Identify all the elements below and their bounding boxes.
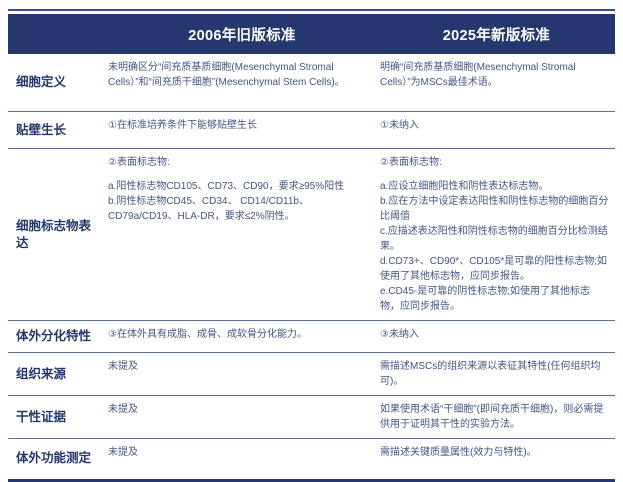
row-old-cell-definition: 未明确区分“间充质基质细胞(Mesenchymal Stromal Cells）… bbox=[106, 54, 378, 96]
text-spacer bbox=[108, 170, 368, 179]
table-row: 细胞标志物表达 ②表面标志物: a.阳性标志物CD105、CD73、CD90，要… bbox=[8, 149, 615, 321]
text-block: a.阳性标志物CD105、CD73、CD90，要求≥95%阳性 bbox=[108, 179, 368, 194]
text-block: 未明确区分“间充质基质细胞(Mesenchymal Stromal Cells）… bbox=[108, 60, 368, 90]
row-new-cell-markers: ②表面标志物: a.应设立细胞阳性和阴性表达标志物。 b.应在方法中设定表达阳性… bbox=[378, 149, 615, 320]
table-body: 细胞定义 未明确区分“间充质基质细胞(Mesenchymal Stromal C… bbox=[8, 54, 615, 477]
text-block: c.应描述表达阳性和阴性标志物的细胞百分比检测结果。 bbox=[380, 224, 609, 254]
text-block: ①未纳入 bbox=[380, 118, 609, 133]
row-label-cell-tissue-source: 组织来源 bbox=[8, 353, 106, 395]
row-label-cell-differentiation: 体外分化特性 bbox=[8, 321, 106, 352]
header-new-standard: 2025年新版标准 bbox=[378, 24, 615, 45]
row-old-cell-tissue-source: 未提及 bbox=[106, 353, 378, 380]
comparison-table-sheet: 2006年旧版标准 2025年新版标准 细胞定义 未明确区分“间充质基质细胞(M… bbox=[0, 9, 623, 427]
text-block: ①在标准培养条件下能够贴壁生长 bbox=[108, 118, 368, 133]
row-label-cell-markers: 细胞标志物表达 bbox=[8, 149, 106, 320]
text-block: d.CD73+、CD90*、CD105*是可靠的阳性标志物;如使用了其他标志物，… bbox=[380, 254, 609, 284]
text-block: ②表面标志物: bbox=[108, 155, 368, 170]
row-label-cell-definition: 细胞定义 bbox=[8, 54, 106, 111]
header-old-standard: 2006年旧版标准 bbox=[106, 24, 378, 45]
text-block: b.应在方法中设定表达阳性和阴性标志物的细胞百分比阈值 bbox=[380, 194, 609, 224]
table-header-row: 2006年旧版标准 2025年新版标准 bbox=[8, 14, 615, 54]
text-block: 未提及 bbox=[108, 402, 368, 417]
text-spacer bbox=[380, 170, 609, 179]
row-old-cell-differentiation: ③在体外具有成脂、成骨、成软骨分化能力。 bbox=[106, 321, 378, 348]
text-block: ②表面标志物: bbox=[380, 155, 609, 170]
text-block: ③未纳入 bbox=[380, 327, 609, 342]
table-row: 组织来源 未提及 需描述MSCs的组织来源以表征其特性(任何组织均可)。 bbox=[8, 353, 615, 396]
text-block: 未提及 bbox=[108, 359, 368, 374]
text-block: ③在体外具有成脂、成骨、成软骨分化能力。 bbox=[108, 327, 368, 342]
row-old-cell-stemness-evidence: 未提及 bbox=[106, 396, 378, 423]
table-top-rule bbox=[8, 9, 615, 11]
row-new-cell-functional-assay: 需描述关键质量属性(效力与特性)。 bbox=[378, 439, 615, 466]
table-row: 体外分化特性 ③在体外具有成脂、成骨、成软骨分化能力。 ③未纳入 bbox=[8, 321, 615, 353]
table-row: 体外功能测定 未提及 需描述关键质量属性(效力与特性)。 bbox=[8, 439, 615, 477]
text-block: 需描述MSCs的组织来源以表征其特性(任何组织均可)。 bbox=[380, 359, 609, 389]
table-row: 贴壁生长 ①在标准培养条件下能够贴壁生长 ①未纳入 bbox=[8, 112, 615, 149]
text-block: 需描述关键质量属性(效力与特性)。 bbox=[380, 445, 609, 460]
text-block: 明确“间充质基质细胞(Mesenchymal Stromal Cells）”为M… bbox=[380, 60, 609, 90]
row-label-cell-adherence: 贴壁生长 bbox=[8, 112, 106, 148]
row-label-cell-stemness-evidence: 干性证据 bbox=[8, 396, 106, 438]
row-label-cell-functional-assay: 体外功能测定 bbox=[8, 439, 106, 477]
row-new-cell-definition: 明确“间充质基质细胞(Mesenchymal Stromal Cells）”为M… bbox=[378, 54, 615, 96]
text-block: 如果使用术语“干细胞”(即间充质干细胞)，则必需提供用于证明其干性的实验方法。 bbox=[380, 402, 609, 432]
row-old-cell-functional-assay: 未提及 bbox=[106, 439, 378, 466]
row-new-cell-stemness-evidence: 如果使用术语“干细胞”(即间充质干细胞)，则必需提供用于证明其干性的实验方法。 bbox=[378, 396, 615, 438]
text-block: b.阴性标志物CD45、CD34、 CD14/CD11b、CD79a/CD19、… bbox=[108, 194, 368, 224]
row-old-cell-markers: ②表面标志物: a.阳性标志物CD105、CD73、CD90，要求≥95%阳性 … bbox=[106, 149, 378, 230]
row-new-cell-tissue-source: 需描述MSCs的组织来源以表征其特性(任何组织均可)。 bbox=[378, 353, 615, 395]
text-block: a.应设立细胞阳性和阴性表达标志物。 bbox=[380, 179, 609, 194]
row-new-cell-differentiation: ③未纳入 bbox=[378, 321, 615, 348]
row-new-cell-adherence: ①未纳入 bbox=[378, 112, 615, 139]
text-block: 未提及 bbox=[108, 445, 368, 460]
table-row: 细胞定义 未明确区分“间充质基质细胞(Mesenchymal Stromal C… bbox=[8, 54, 615, 112]
row-old-cell-adherence: ①在标准培养条件下能够贴壁生长 bbox=[106, 112, 378, 139]
text-block: e.CD45-是可靠的阴性标志物;如使用了其他标志物，应同步报告。 bbox=[380, 284, 609, 314]
